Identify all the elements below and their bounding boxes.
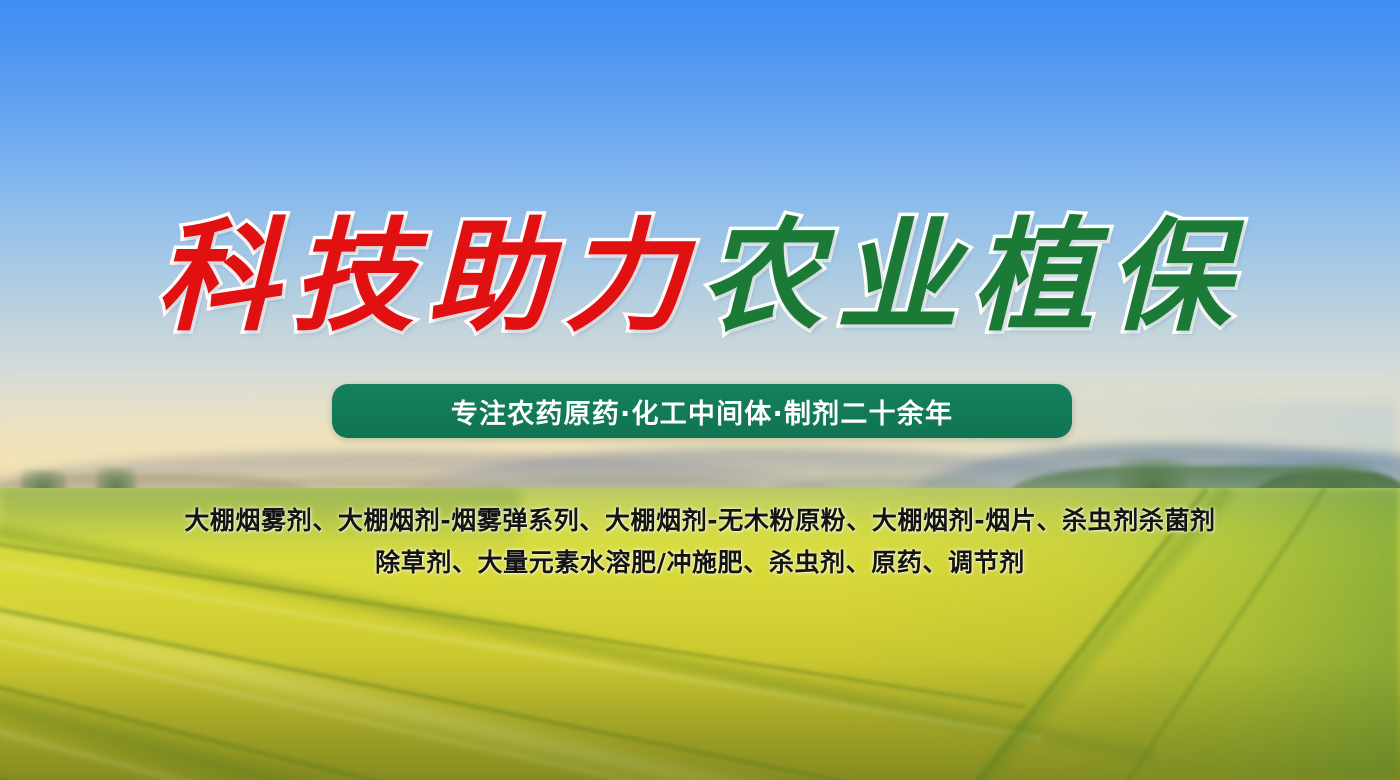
headline-segment-green: 农业植保 (700, 206, 1244, 346)
product-line-1: 大棚烟雾剂、大棚烟剂-烟雾弹系列、大棚烟剂-无木粉原粉、大棚烟剂-烟片、杀虫剂杀… (0, 500, 1400, 542)
subtitle-pill-text: 专注农药原药·化工中间体·制剂二十余年 (451, 392, 953, 431)
headline-segment-red: 科技助力 (156, 206, 700, 346)
subtitle-pill: 专注农药原药·化工中间体·制剂二十余年 (332, 384, 1072, 438)
field-shade-bottom (0, 660, 1400, 780)
product-list: 大棚烟雾剂、大棚烟剂-烟雾弹系列、大棚烟剂-无木粉原粉、大棚烟剂-烟片、杀虫剂杀… (0, 500, 1400, 584)
headline-title: 科技助力农业植保 (0, 206, 1400, 346)
product-line-2: 除草剂、大量元素水溶肥/冲施肥、杀虫剂、原药、调节剂 (0, 542, 1400, 584)
promo-banner: 科技助力农业植保 专注农药原药·化工中间体·制剂二十余年 大棚烟雾剂、大棚烟剂-… (0, 0, 1400, 780)
